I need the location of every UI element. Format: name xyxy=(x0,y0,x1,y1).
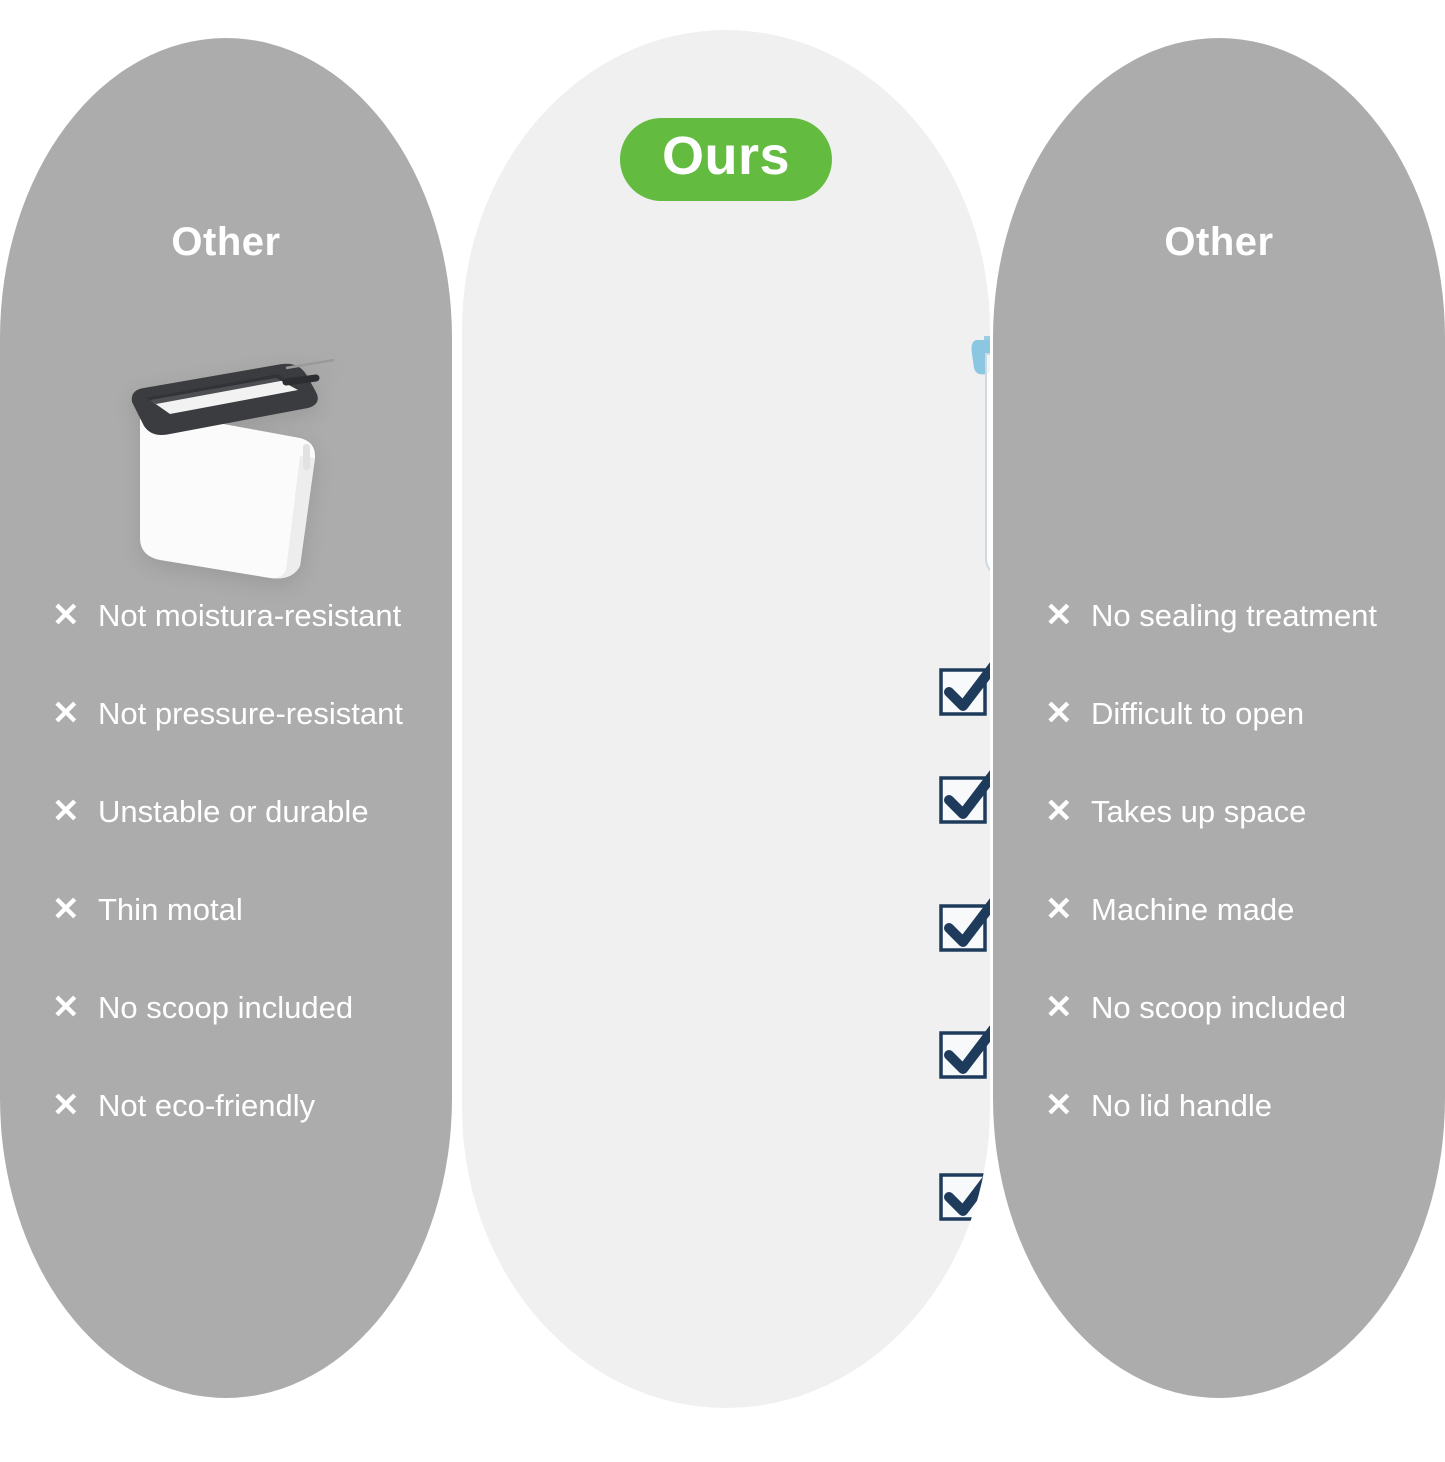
list-item: ✕ Difficult to open xyxy=(1045,696,1421,794)
ours-panel: Ours xyxy=(462,30,990,1408)
cons-label: No sealing treatment xyxy=(1091,600,1377,631)
cons-label: Difficult to open xyxy=(1091,698,1304,729)
other-title-right: Other xyxy=(993,220,1445,265)
checkbox-checked-icon xyxy=(937,656,990,718)
comparison-infographic: Other ✕ Not moistura-resistant ✕ xyxy=(0,0,1445,1462)
feature-item: Seamless seal Freshness from firgt to la… xyxy=(937,630,990,718)
x-mark-icon: ✕ xyxy=(1045,892,1091,925)
x-mark-icon: ✕ xyxy=(1045,1088,1091,1121)
checkbox-checked-icon xyxy=(937,764,990,826)
x-mark-icon: ✕ xyxy=(1045,990,1091,1023)
list-item: ✕ Unstable or durable xyxy=(52,794,428,892)
cons-list-left: ✕ Not moistura-resistant ✕ Not pressure-… xyxy=(52,598,428,1186)
cons-list-right: ✕ No sealing treatment ✕ Difficult to op… xyxy=(1045,598,1421,1186)
list-item: ✕ No scoop included xyxy=(1045,990,1421,1088)
list-item: ✕ No sealing treatment xyxy=(1045,598,1421,696)
list-item: ✕ Not eco-friendly xyxy=(52,1088,428,1186)
cons-label: Takes up space xyxy=(1091,796,1306,827)
list-item: ✕ Not moistura-resistant xyxy=(52,598,428,696)
feature-item: Stackable Design Soace-saving and suitac… xyxy=(937,866,990,974)
feature-item: PET Transparent Material Transparent bod… xyxy=(937,993,990,1114)
cons-label: No lid handle xyxy=(1091,1090,1272,1121)
cons-label: Machine made xyxy=(1091,894,1294,925)
x-mark-icon: ✕ xyxy=(1045,696,1091,729)
other-title-left: Other xyxy=(0,220,452,265)
list-item: ✕ No scoop included xyxy=(52,990,428,1088)
cons-label: Not pressure-resistant xyxy=(98,698,403,729)
x-mark-icon: ✕ xyxy=(52,598,98,631)
checkbox-checked-icon xyxy=(937,1161,990,1223)
x-mark-icon: ✕ xyxy=(52,696,98,729)
list-item: ✕ Machine made xyxy=(1045,892,1421,990)
checkbox-checked-icon xyxy=(937,1019,990,1081)
cons-label: No scoop included xyxy=(1091,992,1346,1023)
x-mark-icon: ✕ xyxy=(52,892,98,925)
list-item: ✕ No lid handle xyxy=(1045,1088,1421,1186)
our-product-image-rice-container: FOOD xyxy=(970,262,990,582)
cons-label: No scoop included xyxy=(98,992,353,1023)
cons-label: Thin motal xyxy=(98,894,243,925)
x-mark-icon: ✕ xyxy=(1045,598,1091,631)
list-item: ✕ Not pressure-resistant xyxy=(52,696,428,794)
x-mark-icon: ✕ xyxy=(52,794,98,827)
list-item: ✕ Thin motal xyxy=(52,892,428,990)
features-list: Seamless seal Freshness from firgt to la… xyxy=(937,630,990,1276)
cons-label: Not moistura-resistant xyxy=(98,600,401,631)
checkbox-checked-icon xyxy=(937,892,990,954)
list-item: ✕ Takes up space xyxy=(1045,794,1421,892)
x-mark-icon: ✕ xyxy=(1045,794,1091,827)
feature-item: Leak-proof lock Erhanced leak-proofdesig… xyxy=(937,738,990,846)
x-mark-icon: ✕ xyxy=(52,1088,98,1121)
feature-item: Including Measuring Cup & Sponge Brush E… xyxy=(937,1135,990,1256)
cons-label: Not eco-friendly xyxy=(98,1090,315,1121)
other-panel-left: Other ✕ Not moistura-resistant ✕ xyxy=(0,38,452,1398)
competitor-bin-image-left xyxy=(110,338,345,583)
x-mark-icon: ✕ xyxy=(52,990,98,1023)
cons-label: Unstable or durable xyxy=(98,796,369,827)
other-panel-right: Other xyxy=(993,38,1445,1398)
ours-badge: Ours xyxy=(620,118,832,201)
